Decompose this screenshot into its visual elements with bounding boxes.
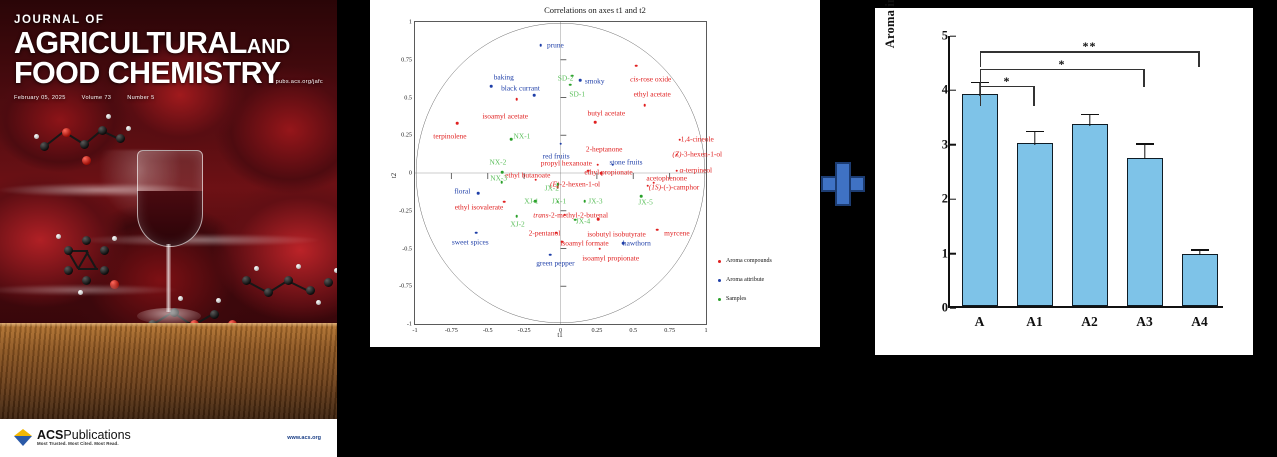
pca-point-label: hawthorn (623, 240, 651, 247)
bar-y-tick: 2 (908, 192, 948, 207)
bar-x-tick: A2 (1081, 314, 1098, 330)
acs-acronym: ACS (37, 428, 63, 442)
pca-point-label: NX-2 (490, 158, 507, 165)
bar-y-axis-label: Aroma intensity of hawthorn (883, 0, 898, 68)
legend-color-dot (718, 260, 721, 263)
bar-y-tick: 3 (908, 137, 948, 152)
pca-x-tick: 1 (704, 327, 707, 334)
bar-x-axis (948, 306, 1223, 308)
pca-legend-item: Aroma attribute (718, 277, 772, 283)
bar-y-tick: 4 (908, 83, 948, 98)
pca-point-label: isoamyl acetate (482, 112, 528, 119)
pca-point (596, 163, 599, 166)
pca-point-label: (Z)-3-hexen-1-ol (672, 150, 722, 157)
pca-y-tick: 0 (409, 170, 412, 177)
pca-y-tick: 1 (409, 19, 412, 26)
acs-publications-logo: ACSPublications Most Trusted. Most Cited… (14, 428, 131, 447)
pca-point-label: isoamyl propionate (582, 255, 639, 262)
pca-legend: Aroma compoundsAroma attributeSamples (718, 258, 772, 315)
pca-x-tick: 0.75 (664, 327, 675, 334)
pca-point-label: cis-rose oxide (630, 75, 671, 82)
legend-label: Samples (726, 296, 746, 302)
pca-point-label: NX-1 (514, 132, 531, 139)
bar-x-tick: A4 (1191, 314, 1208, 330)
error-bar (1034, 131, 1035, 145)
pca-point (533, 94, 536, 97)
error-bar-cap (1191, 249, 1209, 250)
pca-y-tick: -0.75 (399, 283, 412, 290)
bar-column (1072, 124, 1108, 306)
pca-point (656, 228, 659, 231)
pca-point (583, 200, 586, 203)
pca-point (516, 215, 519, 218)
pca-x-tick: 0.25 (591, 327, 602, 334)
pca-point-label: isoamyl formate (560, 240, 608, 247)
legend-label: Aroma compounds (726, 258, 772, 264)
bar-y-axis (948, 36, 950, 308)
acs-wordmark: ACSPublications (37, 429, 131, 442)
significance-mark: * (1059, 57, 1066, 72)
pca-point (516, 98, 519, 101)
pca-x-tick: -0.5 (483, 327, 493, 334)
pca-point (456, 122, 459, 125)
pca-x-tick: -0.75 (445, 327, 458, 334)
pca-point-label: 2-heptanone (586, 145, 623, 152)
pca-point-label: α-terpineol (680, 166, 713, 173)
pca-chart-title: Correlations on axes t1 and t2 (370, 5, 820, 15)
pca-point-label: red fruits (543, 152, 570, 159)
pca-x-tick: -0.25 (518, 327, 531, 334)
legend-label: Aroma attribute (726, 277, 764, 283)
journal-url[interactable]: pubs.acs.org/jafc (276, 79, 323, 85)
wood-table (0, 323, 337, 419)
error-bar (1089, 114, 1090, 126)
pca-y-tick: 0.25 (401, 132, 412, 139)
cover-number: Number 5 (127, 95, 154, 101)
pca-point-label: JX-4 (576, 217, 590, 224)
cover-volume: Volume 73 (82, 95, 112, 101)
pca-legend-item: Aroma compounds (718, 258, 772, 264)
bar-y-tick: 5 (908, 29, 948, 44)
pca-point-label: sweet spices (452, 238, 489, 245)
pca-plot-area: 10.750.50.250-0.25-0.5-0.75-1 -1-0.75-0.… (414, 21, 707, 325)
pca-point (475, 231, 478, 234)
pca-point (676, 169, 679, 172)
cover-issue-meta: February 05, 2025 Volume 73 Number 5 (14, 95, 323, 101)
pca-point-label: butyl acetate (588, 109, 626, 116)
pca-y-tick: -0.5 (402, 245, 412, 252)
pca-point (477, 192, 480, 195)
pca-point (579, 79, 582, 82)
acs-tagline: Most Trusted. Most Cited. Most Read. (37, 442, 131, 446)
bar-column (1017, 143, 1053, 306)
pca-y-tick: -0.25 (399, 207, 412, 214)
pca-point (510, 138, 513, 141)
cover-date: February 05, 2025 (14, 95, 66, 101)
bar-y-tick: 1 (908, 246, 948, 261)
pca-point-label: myrcene (664, 230, 689, 237)
pca-x-tick: 0 (559, 327, 562, 334)
error-bar-cap (1136, 143, 1154, 144)
journal-title-main: AGRICULTURAL (14, 26, 247, 60)
pca-point (635, 64, 638, 67)
pca-y-axis-label: t2 (391, 173, 398, 178)
pca-point-label: XJ-1 (524, 197, 538, 204)
pca-legend-item: Samples (718, 296, 772, 302)
pca-point (490, 85, 493, 88)
bar-column (962, 94, 998, 306)
pca-point-label: NX-3 (490, 174, 507, 181)
pca-point (597, 218, 600, 221)
pca-point-label: propyl hexanoate (541, 159, 592, 166)
pca-point (644, 104, 647, 107)
pca-point-label: (1S)-(-)-camphor (649, 184, 699, 191)
legend-color-dot (718, 298, 721, 301)
pca-point (569, 83, 572, 86)
bar-y-tick: 0 (908, 301, 948, 316)
pca-y-tick: 0.75 (401, 56, 412, 63)
bar-column (1182, 254, 1218, 307)
bar-plot-area: 012345 AA1A2A3A4 **** (948, 36, 1223, 308)
journal-of-label: JOURNAL OF (14, 14, 323, 26)
pca-point-label: ethyl isovalerate (455, 203, 504, 210)
pca-point-label: floral (454, 187, 470, 194)
pca-point (594, 121, 597, 124)
pca-point (559, 142, 562, 145)
journal-title-and: AND (247, 36, 290, 58)
pca-point (598, 247, 601, 250)
pca-point-label: stone fruits (609, 158, 642, 165)
molecule-model-3 (238, 258, 337, 318)
journal-title-line1: AGRICULTURALAND (14, 28, 323, 58)
molecule-model-1 (22, 100, 132, 170)
pca-point-label: acetophenone (646, 175, 687, 182)
pca-point-label: black currant (501, 84, 540, 91)
bar-x-tick: A1 (1026, 314, 1043, 330)
cover-masthead: JOURNAL OF AGRICULTURALAND FOOD CHEMISTR… (0, 0, 337, 101)
pca-point-label: prune (547, 42, 564, 49)
acs-publications-word: Publications (63, 428, 130, 442)
pca-point-label: baking (494, 73, 514, 80)
journal-cover: JOURNAL OF AGRICULTURALAND FOOD CHEMISTR… (0, 0, 337, 457)
wine-glass (133, 150, 205, 340)
cover-footer: ACSPublications Most Trusted. Most Cited… (0, 419, 337, 457)
pca-point-label: green pepper (536, 259, 574, 266)
error-bar-cap (1081, 114, 1099, 115)
significance-mark: * (1004, 74, 1011, 89)
pca-point-label: JX-1 (552, 197, 566, 204)
pca-point-label: isobutyl isobutyrate (587, 230, 646, 237)
plus-icon (819, 160, 867, 208)
bar-x-tick: A3 (1136, 314, 1153, 330)
pca-y-tick: -1 (407, 321, 412, 328)
significance-mark: ** (1083, 39, 1097, 54)
pca-x-tick: -1 (412, 327, 417, 334)
bar-chart-panel: Aroma intensity of hawthorn 012345 AA1A2… (875, 8, 1253, 355)
pca-point-label: ethyl butanoate (505, 172, 550, 179)
pca-point-label: JX-5 (638, 199, 652, 206)
pca-point (540, 44, 543, 47)
pca-point-label: smoky (585, 77, 605, 84)
pca-point-label: XJ-2 (510, 220, 524, 227)
pca-point-label: JX-2 (545, 184, 559, 191)
error-bar (1144, 143, 1145, 159)
acs-website-url[interactable]: www.acs.org (287, 435, 321, 441)
molecule-model-2 (52, 228, 142, 308)
pca-point-label: JX-3 (588, 197, 602, 204)
pca-point-label: ethyl propionate (584, 169, 632, 176)
pca-point-label: 1,4-cineole (681, 135, 714, 142)
pca-x-tick: 0.5 (629, 327, 637, 334)
pca-point-label: terpinolene (433, 132, 466, 139)
acs-diamond-icon (14, 428, 33, 447)
legend-color-dot (718, 279, 721, 282)
pca-point (549, 253, 552, 256)
error-bar-cap (1026, 131, 1044, 132)
pca-point-label: SD-1 (569, 90, 585, 97)
pca-y-tick: 0.5 (404, 94, 412, 101)
pca-correlation-panel: Correlations on axes t1 and t2 t2 t1 10.… (370, 0, 820, 347)
pca-point-label: 2-pentanol (529, 230, 561, 237)
pca-point-label: ethyl acetate (634, 90, 671, 97)
bar-column (1127, 158, 1163, 307)
bar-x-tick: A (975, 314, 985, 330)
pca-point-label: SD-2 (558, 74, 574, 81)
